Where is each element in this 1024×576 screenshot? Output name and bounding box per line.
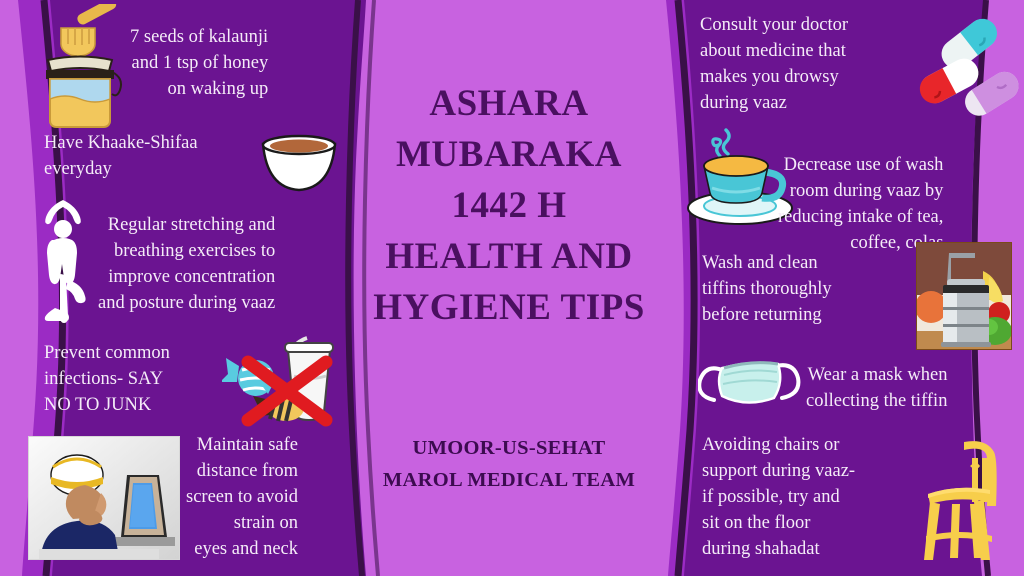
tip-consult-doctor-text: Consult your doctor about medicine that … [700, 12, 848, 116]
tip-no-junk-food-text: Prevent common infections- SAY NO TO JUN… [44, 340, 170, 418]
tip-avoid-chairs-text: Avoiding chairs or support during vaaz- … [702, 432, 855, 562]
tip-wear-mask-text: Wear a mask when collecting the tiffin [806, 362, 947, 414]
tip-screen-distance-text: Maintain safe distance from screen to av… [186, 432, 298, 562]
tip-avoid-chairs: Avoiding chairs or support during vaaz- … [702, 432, 917, 562]
tip-stretching-breathing: Regular stretching and breathing exercis… [98, 212, 341, 316]
tip-screen-distance: Maintain safe distance from screen to av… [186, 432, 341, 562]
yoga-tree-pose-icon [24, 196, 102, 328]
tip-no-junk-food: Prevent common infections- SAY NO TO JUN… [44, 340, 244, 418]
bowl-of-soup-icon [258, 132, 340, 194]
poster-subtitle: UMOOR-US-SEHAT MAROL MEDICAL TEAM [356, 432, 662, 496]
junk-food-crossed-out-icon [222, 332, 342, 432]
tip-reduce-washroom: Decrease use of wash room during vaaz by… [778, 152, 1010, 256]
tip-wash-tiffins: Wash and clean tiffins thoroughly before… [702, 250, 902, 328]
tip-reduce-washroom-text: Decrease use of wash room during vaaz by… [778, 152, 943, 256]
tip-wear-mask: Wear a mask when collecting the tiffin [806, 362, 1006, 414]
poster-title: ASHARA MUBARAKA 1442 H HEALTH AND HYGIEN… [356, 78, 662, 333]
tip-honey-kalaunji-text: 7 seeds of kalaunji and 1 tsp of honey o… [130, 24, 268, 102]
infographic-poster: ASHARA MUBARAKA 1442 H HEALTH AND HYGIEN… [0, 0, 1024, 576]
tip-stretching-breathing-text: Regular stretching and breathing exercis… [98, 212, 275, 316]
tip-khaake-shifaa-text: Have Khaake-Shifaa everyday [44, 130, 198, 182]
face-mask-icon [698, 358, 802, 420]
tip-khaake-shifaa: Have Khaake-Shifaa everyday [44, 130, 259, 182]
pills-capsules-icon [910, 14, 1020, 124]
steel-tiffin-box-photo [916, 242, 1012, 350]
tip-honey-kalaunji: 7 seeds of kalaunji and 1 tsp of honey o… [130, 24, 340, 102]
honey-jar-with-dipper-icon [28, 4, 132, 128]
tip-wash-tiffins-text: Wash and clean tiffins thoroughly before… [702, 250, 832, 328]
yellow-plastic-chair-icon [912, 436, 1012, 566]
tip-consult-doctor: Consult your doctor about medicine that … [700, 12, 915, 116]
man-at-computer-photo [28, 436, 180, 560]
